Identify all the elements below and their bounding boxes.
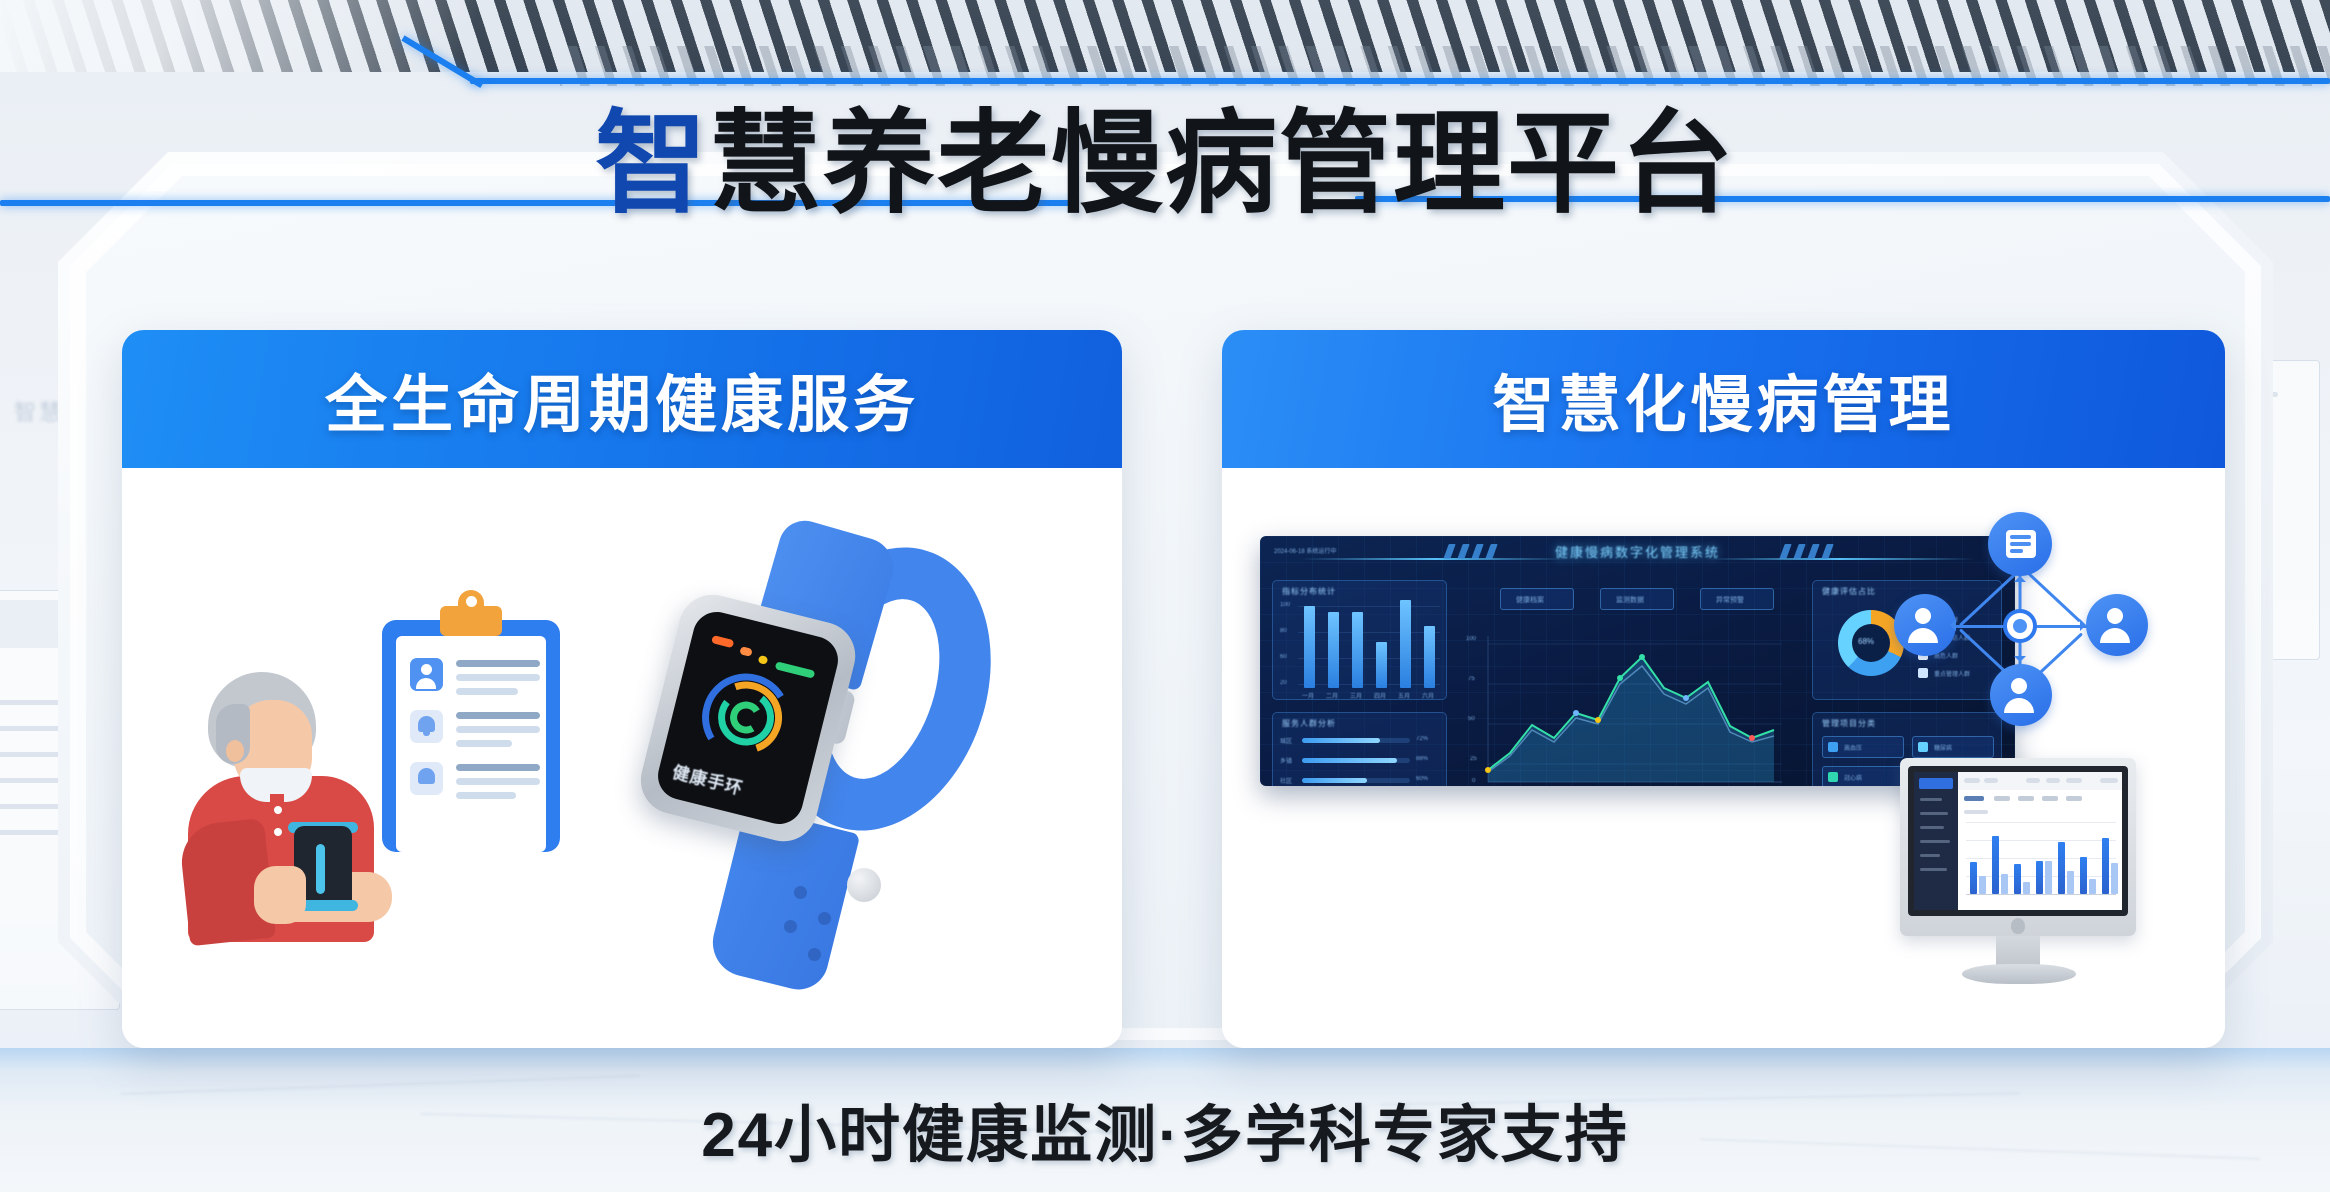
bar-ytick-3: 80: [1280, 628, 1287, 634]
monitor-bar-a6: [2102, 838, 2109, 894]
monitor-topbar-item-2[interactable]: [2026, 778, 2040, 783]
hbar-label-2: 社区: [1280, 776, 1292, 785]
monitor-bar-a5: [2080, 857, 2087, 894]
monitor-topbar-item-5[interactable]: [2100, 778, 2118, 783]
watch-screen-label: 健康手环: [670, 758, 746, 800]
monitor-bar-a2: [2014, 864, 2021, 894]
bell-icon: [418, 716, 435, 732]
bar-ytick-4: 100: [1280, 602, 1290, 608]
watch-band-hole-0: [794, 886, 807, 899]
record-tile-icon: [418, 768, 435, 784]
monitor-tab-0[interactable]: [1964, 796, 1984, 801]
card-header-left-label: 全生命周期健康服务: [325, 354, 919, 444]
bar-xtick-3: 四月: [1374, 691, 1386, 700]
panel-hbar-title: 服务人群分析: [1282, 718, 1336, 729]
bar-xtick-4: 五月: [1398, 691, 1410, 700]
monitor-gridline-1: [1966, 840, 2116, 841]
record-line-8: [456, 792, 516, 799]
dashboard-deco-slash-2: [1471, 544, 1483, 559]
monitor-bar-b6: [2111, 863, 2118, 894]
bar-xtick-5: 六月: [1422, 691, 1434, 700]
hub-core-icon: [2013, 619, 2027, 633]
watch-status-dot-3: [775, 661, 816, 678]
panel-chips-title: 管理项目分类: [1822, 718, 1876, 729]
dashboard-bar-5: [1424, 626, 1435, 688]
hbar-fill-2: [1302, 778, 1367, 783]
card-lifecycle-health-service[interactable]: 全生命周期健康服务: [122, 330, 1122, 1048]
chip-label-2: 冠心病: [1844, 773, 1862, 782]
monitor-side-item-1[interactable]: [1920, 812, 1948, 815]
illustration-desktop-monitor: [1870, 748, 2170, 1008]
card-header-right: 智慧化慢病管理: [1222, 330, 2225, 468]
bar-gridline-3: [1298, 684, 1440, 685]
dashboard-deco-slash-0: [1443, 544, 1455, 559]
page-caption: 24小时健康监测·多学科专家支持: [0, 1084, 2330, 1174]
avatar-head-icon: [421, 664, 432, 675]
hbar-label-0: 城区: [1280, 736, 1292, 745]
bar-gridline-1: [1298, 632, 1440, 633]
slide-stage: 智慧健康管理服务中心 健康档案建立 慢病随访管理 远程监测服务 健康宣教活动 智…: [0, 0, 2330, 1192]
monitor-tab-3[interactable]: [2042, 796, 2058, 801]
card-header-left: 全生命周期健康服务: [122, 330, 1122, 468]
watch-status-dot-0: [711, 635, 734, 648]
monitor-bar-b4: [2067, 871, 2074, 894]
chip-label-0: 高血压: [1844, 743, 1862, 752]
record-line-3: [456, 712, 540, 719]
area-ytick-1: 25: [1470, 756, 1477, 762]
bar-ytick-1: 20: [1280, 680, 1287, 686]
monitor-topbar-item-4[interactable]: [2066, 778, 2082, 783]
page-title: 智慧养老慢病管理平台: [0, 108, 2330, 220]
record-line-4: [456, 726, 540, 733]
monitor-gridline-0: [1966, 822, 2116, 823]
bar-ytick-2: 60: [1280, 654, 1287, 660]
card-header-right-label: 智慧化慢病管理: [1492, 354, 1954, 444]
hbar-value-1: 88%: [1416, 756, 1428, 762]
dashboard-deco-slash-7: [1821, 544, 1833, 559]
monitor-side-item-2[interactable]: [1920, 826, 1944, 829]
dashboard-deco-slash-3: [1485, 544, 1497, 559]
record-line-2: [456, 688, 518, 695]
record-line-7: [456, 778, 540, 785]
bar-gridline-2: [1298, 658, 1440, 659]
watch-band-hole-3: [808, 948, 821, 961]
bar-xtick-0: 一月: [1302, 691, 1314, 700]
area-ytick-3: 75: [1468, 676, 1475, 682]
node-person-right[interactable]: [2086, 594, 2148, 656]
node-person-left[interactable]: [1894, 594, 1956, 656]
watch-band-hole-1: [818, 912, 831, 925]
document-icon-line-0: [2010, 535, 2031, 539]
monitor-topbar-item-0[interactable]: [1964, 778, 1980, 783]
card-body-left: 健康手环: [122, 468, 1122, 1048]
panel-bar-chart-title: 指标分布统计: [1282, 586, 1336, 597]
dashboard-bar-0: [1304, 606, 1315, 688]
monitor-side-item-3[interactable]: [1920, 840, 1950, 843]
accent-rail-top: [470, 78, 2330, 84]
monitor-topbar-item-3[interactable]: [2046, 778, 2060, 783]
hbar-value-2: 60%: [1416, 776, 1428, 782]
watch-status-dot-1: [739, 646, 753, 657]
monitor-axis: [1966, 894, 2116, 895]
hbar-label-1: 乡镇: [1280, 756, 1292, 765]
monitor-tab-2[interactable]: [2018, 796, 2034, 801]
person-ear: [226, 740, 244, 762]
person-right-head-icon: [2107, 608, 2123, 624]
person-hand: [254, 866, 306, 924]
monitor-base: [1962, 964, 2076, 984]
arrow-down: [2014, 656, 2026, 662]
hbar-value-0: 72%: [1416, 736, 1428, 742]
hbar-fill-1: [1302, 758, 1397, 763]
monitor-bar-b2: [2023, 882, 2030, 894]
watch-status-dot-2: [758, 655, 769, 665]
person-placket: [270, 794, 284, 846]
panel-donut-title: 健康评估占比: [1822, 586, 1876, 597]
dashboard-bar-2: [1352, 612, 1363, 688]
dashboard-title: 健康慢病数字化管理系统: [1555, 542, 1720, 561]
record-line-5: [456, 740, 512, 747]
illustration-elderly-patient: [182, 554, 582, 974]
person-bottom-head-icon: [2011, 678, 2027, 694]
monitor-side-item-0[interactable]: [1920, 798, 1942, 801]
record-line-6: [456, 764, 540, 771]
person-button-1: [274, 828, 282, 836]
bar-xtick-2: 三月: [1350, 691, 1362, 700]
dashboard-bar-1: [1328, 612, 1339, 688]
page-title-rest: 慧养老慢病管理平台: [709, 101, 1735, 226]
dashboard-tab-label-0: 健康档案: [1516, 595, 1544, 605]
person-left-head-icon: [1915, 608, 1931, 624]
monitor-bar-b3: [2045, 861, 2052, 894]
dashboard-bar-3: [1376, 642, 1387, 688]
area-ytick-4: 100: [1466, 636, 1476, 642]
page-title-highlight: 智: [595, 101, 709, 226]
illustration-network-diagram: [1872, 506, 2172, 736]
bar-gridline-0: [1298, 606, 1440, 607]
monitor-app-logo: [1919, 778, 1953, 789]
bell-clapper-icon: [423, 731, 430, 736]
monitor-brand-logo-icon: [2011, 918, 2025, 934]
dashboard-header-bar-left: [1300, 558, 1570, 560]
monitor-bar-a1: [1992, 836, 1999, 894]
dashboard-deco-slash-6: [1807, 544, 1819, 559]
chip-icon-0: [1828, 742, 1838, 752]
arrow-right: [2080, 619, 2086, 631]
monitor-tab-4[interactable]: [2066, 796, 2082, 801]
bp-cuff-highlight: [316, 844, 325, 894]
monitor-top-bar: [1958, 772, 2122, 790]
record-line-0: [456, 660, 540, 667]
clipboard-clip-hole: [466, 596, 477, 607]
watch-band-hole-2: [784, 920, 797, 933]
record-line-1: [456, 674, 540, 681]
chip-icon-2: [1828, 772, 1838, 782]
watch-band-pin: [847, 868, 881, 902]
arrow-up: [2014, 576, 2026, 582]
monitor-subtitle: [1964, 810, 1988, 814]
monitor-bar-a3: [2036, 861, 2043, 894]
dashboard-deco-slash-4: [1779, 544, 1791, 559]
card-body-right: 健康慢病数字化管理系统 2024-06-18 系统运行中 指标分布统计: [1222, 468, 2225, 1048]
monitor-side-item-5[interactable]: [1920, 868, 1947, 871]
dashboard-deco-slash-5: [1793, 544, 1805, 559]
bar-xtick-1: 二月: [1326, 691, 1338, 700]
hbar-fill-0: [1302, 738, 1380, 743]
monitor-side-item-4[interactable]: [1920, 854, 1940, 857]
document-icon-line-1: [2010, 542, 2031, 546]
dashboard-tab-label-2: 异常预警: [1716, 595, 1744, 605]
monitor-tab-1[interactable]: [1994, 796, 2010, 801]
document-icon-line-2: [2010, 549, 2023, 553]
dashboard-area-chart: [1464, 622, 1794, 786]
person-button-0: [274, 806, 282, 814]
dashboard-tab-label-1: 监测数据: [1616, 595, 1644, 605]
area-ytick-2: 50: [1468, 716, 1475, 722]
area-ytick-0: 0: [1472, 778, 1475, 784]
monitor-bar-b0: [1979, 876, 1986, 894]
monitor-bar-a0: [1970, 862, 1977, 894]
monitor-gridline-2: [1966, 858, 2116, 859]
card-smart-chronic-management[interactable]: 智慧化慢病管理 健康慢病数字化管理系统: [1222, 330, 2225, 1048]
monitor-bar-b1: [2001, 874, 2008, 894]
illustration-smartwatch: 健康手环: [612, 520, 1062, 1000]
dashboard-bar-4: [1400, 600, 1411, 688]
node-person-bottom[interactable]: [1990, 664, 2052, 726]
dashboard-deco-slash-1: [1457, 544, 1469, 559]
monitor-topbar-item-1[interactable]: [1984, 778, 1998, 783]
monitor-bar-a4: [2058, 842, 2065, 894]
monitor-bar-b5: [2089, 879, 2096, 894]
arrow-left: [1950, 619, 1956, 631]
dashboard-meta-text: 2024-06-18 系统运行中: [1274, 546, 1336, 555]
monitor-screen[interactable]: [1914, 772, 2122, 910]
